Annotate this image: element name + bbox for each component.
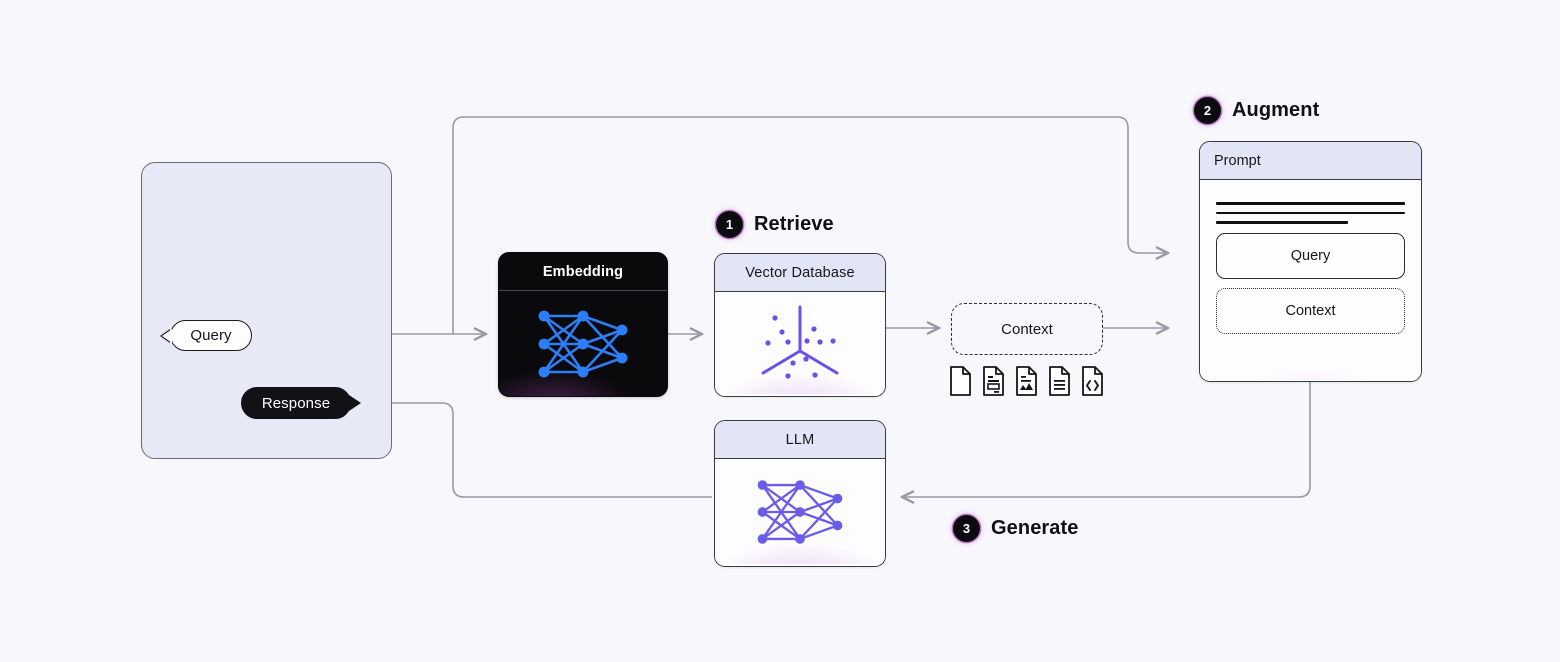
step-retrieve-number: 1 [716, 211, 743, 238]
step-generate-label: Generate [991, 517, 1079, 540]
node-vector-database-body [715, 292, 885, 394]
node-llm-body [715, 459, 885, 564]
response-bubble-label: Response [262, 395, 330, 412]
file-code-icon [1080, 365, 1105, 397]
response-bubble[interactable]: Response [241, 387, 351, 419]
prompt-panel[interactable]: Prompt Query Context [1199, 141, 1422, 382]
step-augment-number: 2 [1194, 97, 1221, 124]
step-augment: 2 Augment [1194, 97, 1319, 124]
neural-network-icon [529, 303, 637, 385]
query-bubble-tail [162, 329, 172, 343]
step-retrieve: 1 Retrieve [716, 211, 834, 238]
prompt-text-line [1216, 212, 1405, 215]
response-bubble-tail [349, 395, 361, 411]
file-text-icon [1047, 365, 1072, 397]
step-augment-label: Augment [1232, 99, 1319, 122]
prompt-text-line [1216, 202, 1405, 205]
wire-llm-to-response [362, 403, 712, 497]
blank-file-icon [948, 365, 973, 397]
context-document-icons [948, 365, 1105, 397]
step-retrieve-label: Retrieve [754, 213, 834, 236]
vector-space-axes-icon [744, 297, 856, 389]
query-bubble[interactable]: Query [170, 320, 252, 351]
context-pill-label: Context [1001, 321, 1053, 338]
context-pill[interactable]: Context [951, 303, 1103, 355]
node-embedding-title: Embedding [499, 253, 667, 291]
file-form-icon [981, 365, 1006, 397]
prompt-panel-title: Prompt [1200, 142, 1421, 180]
prompt-panel-body: Query Context [1200, 180, 1421, 380]
prompt-slot-query[interactable]: Query [1216, 233, 1405, 279]
step-generate: 3 Generate [953, 515, 1079, 542]
node-llm-title: LLM [715, 421, 885, 459]
diagram-canvas: Query Response Embedding Vector Database [0, 0, 1560, 662]
node-embedding-body [499, 291, 667, 396]
prompt-slot-context-label: Context [1286, 303, 1336, 319]
neural-network-icon [748, 472, 852, 552]
node-vector-database[interactable]: Vector Database [714, 253, 886, 397]
prompt-text-line [1216, 221, 1348, 224]
prompt-slot-context[interactable]: Context [1216, 288, 1405, 334]
file-chart-icon [1014, 365, 1039, 397]
query-bubble-label: Query [190, 327, 231, 344]
step-generate-number: 3 [953, 515, 980, 542]
node-llm[interactable]: LLM [714, 420, 886, 567]
wire-prompt-to-llm [902, 382, 1310, 497]
node-vector-database-title: Vector Database [715, 254, 885, 292]
node-embedding[interactable]: Embedding [498, 252, 668, 397]
prompt-slot-query-label: Query [1291, 248, 1331, 264]
